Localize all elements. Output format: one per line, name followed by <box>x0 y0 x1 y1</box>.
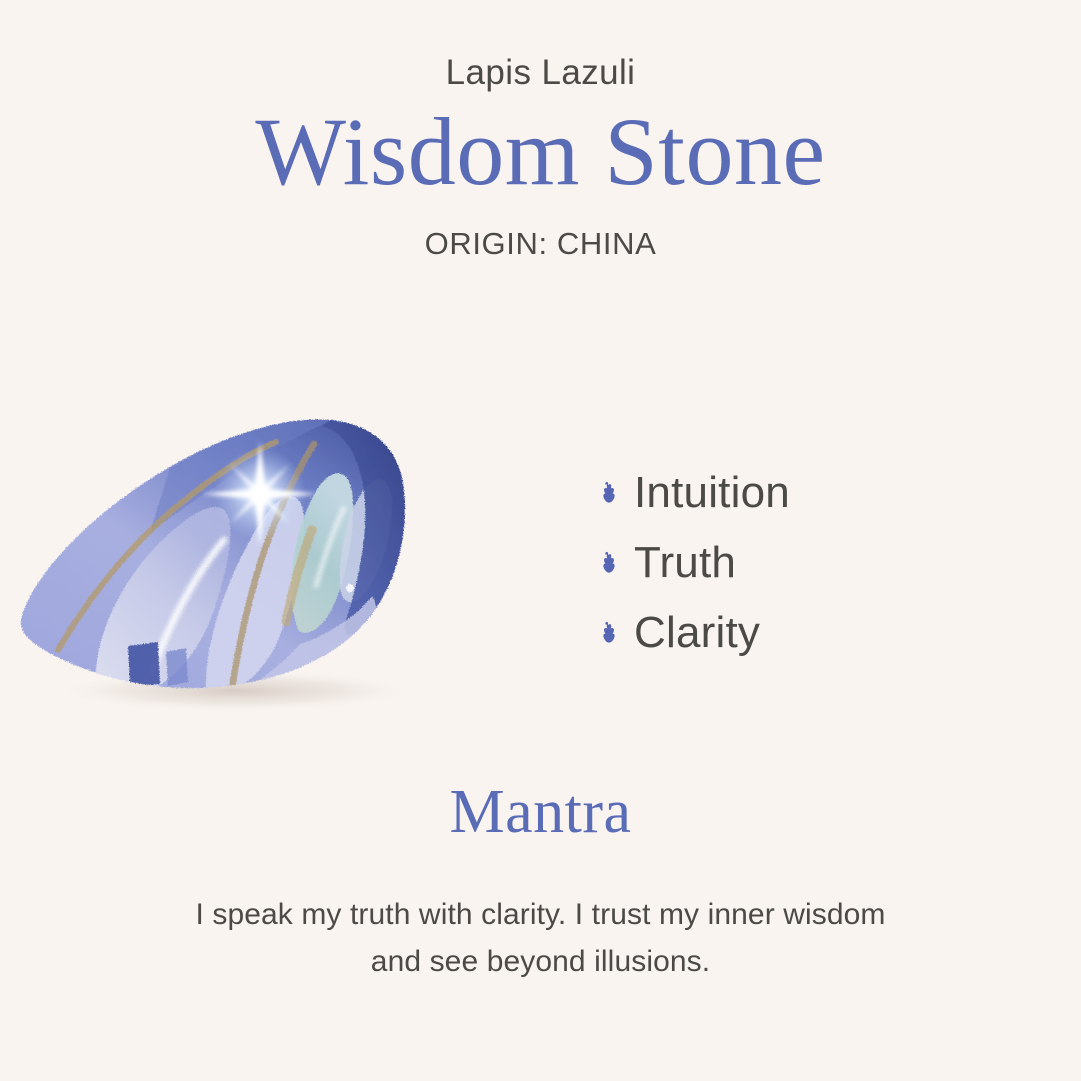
stone-inclusion-2 <box>166 648 188 686</box>
stone-subtitle: Lapis Lazuli <box>0 52 1081 94</box>
property-item-truth: Truth <box>600 541 1081 585</box>
mantra-line-1: I speak my truth with clarity. I trust m… <box>195 898 885 931</box>
header: Lapis Lazuli Wisdom Stone ORIGIN: CHINA <box>0 52 1081 262</box>
mantra-text: I speak my truth with clarity. I trust m… <box>161 892 921 985</box>
property-item-clarity: Clarity <box>600 611 1081 655</box>
mantra-section: Mantra I speak my truth with clarity. I … <box>0 778 1081 985</box>
property-label: Intuition <box>634 471 790 515</box>
mantra-line-2: and see beyond illusions. <box>371 945 710 978</box>
stone-illustration <box>0 398 560 728</box>
stone-inclusion <box>128 642 160 686</box>
mantra-heading: Mantra <box>0 778 1081 846</box>
gem-bullet-icon <box>600 551 618 575</box>
crystal-info-card: Lapis Lazuli Wisdom Stone ORIGIN: CHINA <box>0 0 1081 1081</box>
property-item-intuition: Intuition <box>600 471 1081 515</box>
stone-and-properties: Intuition Truth Clarity <box>0 398 1081 728</box>
property-label: Truth <box>634 541 736 585</box>
property-label: Clarity <box>634 611 760 655</box>
properties-list: Intuition Truth Clarity <box>560 471 1081 655</box>
gem-bullet-icon <box>600 481 618 505</box>
gem-bullet-icon <box>600 621 618 645</box>
stone-origin: ORIGIN: CHINA <box>0 226 1081 262</box>
page-title: Wisdom Stone <box>0 100 1081 204</box>
lapis-lazuli-stone-icon <box>0 398 560 728</box>
